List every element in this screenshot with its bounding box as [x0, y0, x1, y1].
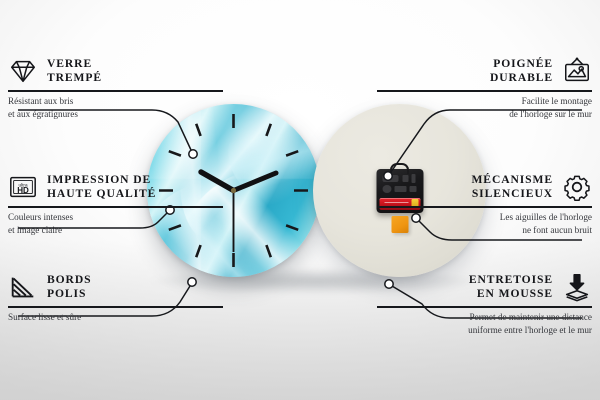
svg-text:HD: HD [17, 186, 29, 195]
feature-title: VERRE TREMPÉ [47, 57, 102, 85]
ultra-hd-icon: ultra HD [8, 172, 38, 202]
feature-bords-polis: BORDS POLIS Surface lisse et sûre [8, 272, 223, 324]
feature-entretoise-en-mousse: ENTRETOISE EN MOUSSE Permet de maintenir… [377, 272, 592, 336]
arrow-down-layers-icon [562, 272, 592, 302]
feature-description: Couleurs intenses et image claire [8, 211, 223, 236]
feature-title: POIGNÉE DURABLE [490, 57, 553, 85]
feature-title: IMPRESSION DE HAUTE QUALITÉ [47, 173, 156, 201]
feature-description: Résistant aux bris et aux égratignures [8, 95, 223, 120]
feature-impression-haute-qualite: ultra HD IMPRESSION DE HAUTE QUALITÉ Cou… [8, 172, 223, 236]
feature-poignee-durable: POIGNÉE DURABLE Facilite le montage de l… [377, 56, 592, 120]
feature-title: ENTRETOISE EN MOUSSE [469, 273, 553, 301]
feature-description: Facilite le montage de l'horloge sur le … [377, 95, 592, 120]
feature-description: Les aiguilles de l'horloge ne font aucun… [377, 211, 592, 236]
feature-divider [8, 90, 223, 92]
feature-divider [8, 306, 223, 308]
feature-verre-trempe: VERRE TREMPÉ Résistant aux bris et aux é… [8, 56, 223, 120]
diamond-icon [8, 56, 38, 86]
feature-title: BORDS POLIS [47, 273, 91, 301]
infographic-canvas: VERRE TREMPÉ Résistant aux bris et aux é… [0, 0, 600, 400]
feature-divider [377, 206, 592, 208]
connector-endpoint [189, 150, 197, 158]
feature-mecanisme-silencieux: MÉCANISME SILENCIEUX Les aiguilles de l'… [377, 172, 592, 236]
feature-divider [377, 306, 592, 308]
feature-description: Permet de maintenir une distance uniform… [377, 311, 592, 336]
feature-divider [8, 206, 223, 208]
framed-picture-hook-icon [562, 56, 592, 86]
polished-edges-icon [8, 272, 38, 302]
feature-title: MÉCANISME SILENCIEUX [471, 173, 553, 201]
gear-icon [562, 172, 592, 202]
feature-divider [377, 90, 592, 92]
feature-description: Surface lisse et sûre [8, 311, 223, 324]
